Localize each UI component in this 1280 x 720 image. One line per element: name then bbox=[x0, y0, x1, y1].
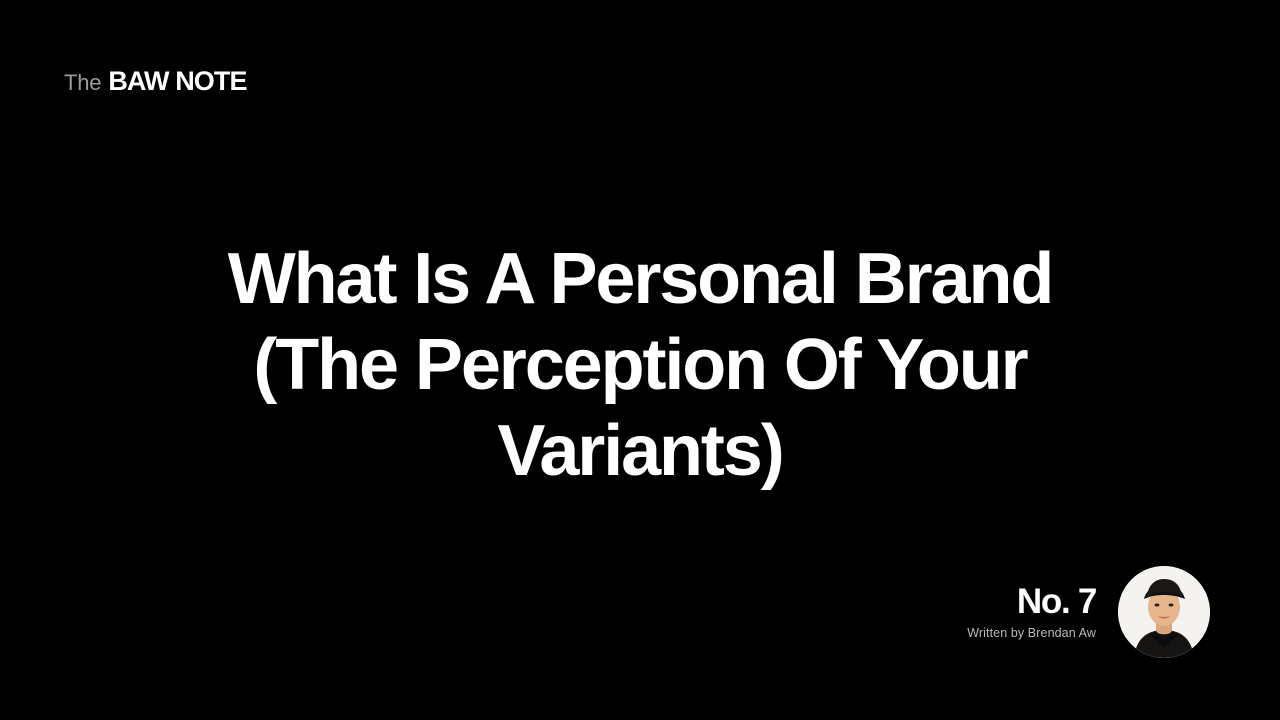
footer-credit: No. 7 Written by Brendan Aw bbox=[967, 566, 1210, 658]
title-line-2: (The Perception Of Your bbox=[190, 322, 1090, 408]
page-title: What Is A Personal Brand (The Perception… bbox=[190, 236, 1090, 494]
brand-prefix: The bbox=[64, 72, 101, 94]
title-line-3: Variants) bbox=[190, 408, 1090, 494]
title-line-1: What Is A Personal Brand bbox=[190, 236, 1090, 322]
brand-logo[interactable]: The BAW NOTE bbox=[64, 68, 247, 95]
avatar bbox=[1118, 566, 1210, 658]
issue-number: No. 7 bbox=[967, 584, 1096, 621]
author-credit: Written by Brendan Aw bbox=[967, 627, 1096, 640]
title-slide: The BAW NOTE What Is A Personal Brand (T… bbox=[0, 0, 1280, 720]
brand-name: BAW NOTE bbox=[108, 68, 246, 95]
byline: No. 7 Written by Brendan Aw bbox=[967, 584, 1096, 639]
